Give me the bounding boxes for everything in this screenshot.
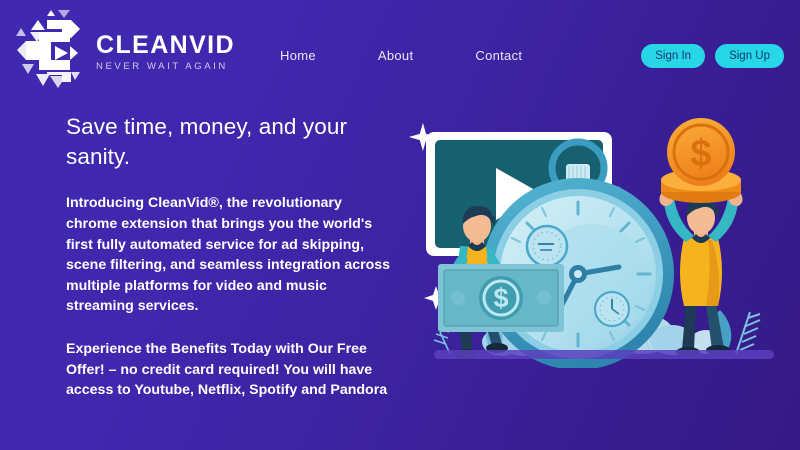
hero-paragraph-intro: Introducing CleanVid®, the revolutionary… (66, 193, 396, 317)
stopwatch-subdial-right (595, 292, 629, 326)
fern-leaf (736, 312, 760, 354)
hero-paragraph-offer: Experience the Benefits Today with Our F… (66, 339, 396, 401)
hero-copy: Save time, money, and your sanity. Intro… (66, 112, 396, 401)
svg-text:$: $ (493, 283, 508, 313)
brand-name: CLEANVID (96, 33, 235, 58)
svg-text:$: $ (690, 133, 711, 175)
brand-tagline: NEVER WAIT AGAIN (96, 62, 235, 72)
page-title: Save time, money, and your sanity. (66, 112, 396, 171)
brand-logo[interactable]: CLEANVID NEVER WAIT AGAIN (14, 8, 235, 92)
auth-buttons: Sign In Sign Up (641, 44, 784, 68)
ground-line (434, 350, 774, 359)
nav-item-home[interactable]: Home (280, 48, 316, 63)
stopwatch-subdial-left (527, 226, 567, 266)
nav-item-contact[interactable]: Contact (475, 48, 522, 63)
gold-coin-icon: $ (661, 118, 741, 203)
site-header: CLEANVID NEVER WAIT AGAIN Home About Con… (0, 0, 800, 100)
main-navigation: Home About Contact (280, 48, 522, 63)
sign-in-button[interactable]: Sign In (641, 44, 705, 68)
sign-up-button[interactable]: Sign Up (715, 44, 784, 68)
save-time-money-illustration: $ (406, 106, 800, 368)
nav-item-about[interactable]: About (378, 48, 413, 63)
hexagon-c-play-logo-icon (14, 8, 90, 92)
dollar-bill-icon: $ (438, 264, 564, 332)
